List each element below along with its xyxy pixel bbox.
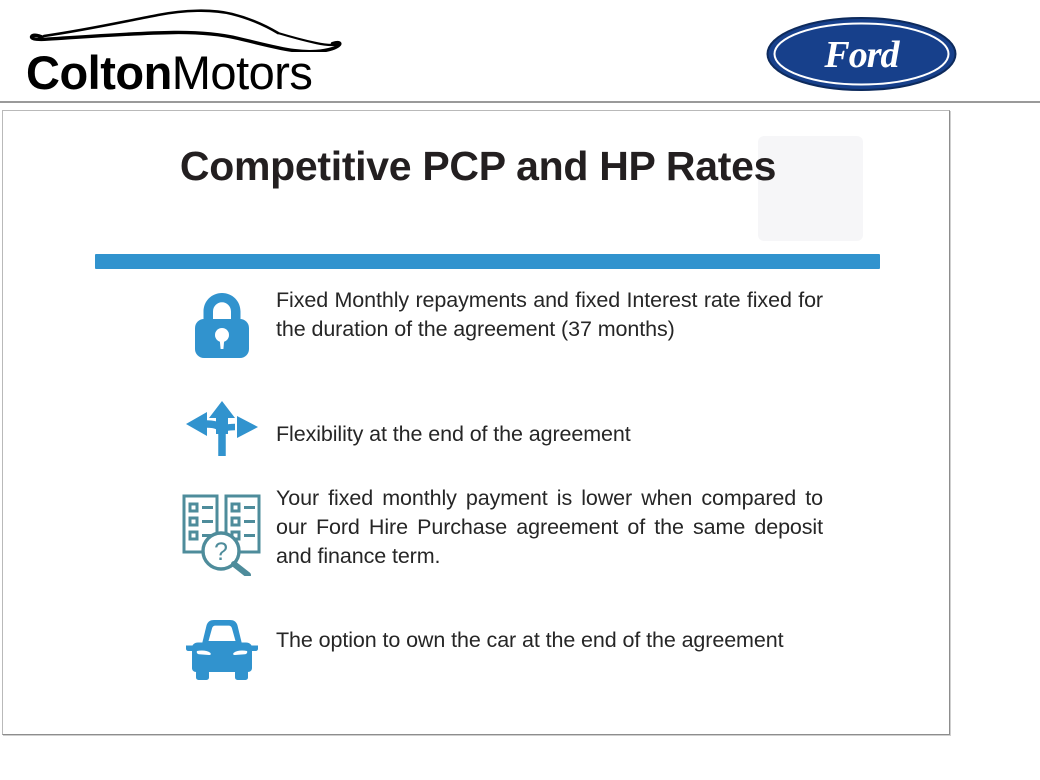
brand-wordmark: ColtonMotors <box>26 44 386 102</box>
brand-name-light: Motors <box>172 46 313 99</box>
feature-text: Fixed Monthly repayments and fixed Inter… <box>276 286 951 344</box>
feature-item-ownership-option: The option to own the car at the end of … <box>168 608 951 682</box>
feature-list: Fixed Monthly repayments and fixed Inter… <box>3 286 951 682</box>
ford-oval-logo: Ford <box>765 16 958 92</box>
brand-name-bold: Colton <box>26 46 172 99</box>
feature-item-fixed-repayments: Fixed Monthly repayments and fixed Inter… <box>168 286 951 360</box>
svg-text:?: ? <box>214 538 228 566</box>
title-block: Competitive PCP and HP Rates <box>63 139 893 193</box>
car-front-icon <box>168 608 276 682</box>
slide-card: Competitive PCP and HP Rates Fixed Month… <box>2 110 950 735</box>
feature-text: The option to own the car at the end of … <box>276 608 951 655</box>
document-comparison-search-icon-glyph: ? <box>180 490 264 576</box>
colton-motors-logo: ColtonMotors <box>26 6 386 100</box>
padlock-icon <box>168 286 276 360</box>
three-way-arrow-icon-glyph <box>183 400 261 462</box>
header-divider-rule <box>0 101 1040 103</box>
three-way-arrow-icon <box>168 398 276 462</box>
page-title: Competitive PCP and HP Rates <box>63 139 893 193</box>
feature-text: Your fixed monthly payment is lower when… <box>276 484 951 571</box>
feature-item-lower-payment: ? Your fixed monthly payment is lower wh… <box>168 484 951 576</box>
page-header: ColtonMotors Ford <box>0 0 1040 103</box>
svg-text:Ford: Ford <box>823 34 900 76</box>
title-divider-bar <box>95 254 880 269</box>
padlock-icon-glyph <box>190 290 254 360</box>
feature-text: Flexibility at the end of the agreement <box>276 398 951 449</box>
feature-item-flexibility: Flexibility at the end of the agreement <box>168 398 951 462</box>
car-front-icon-glyph <box>182 618 262 682</box>
document-comparison-search-icon: ? <box>168 484 276 576</box>
ford-logo-icon: Ford <box>765 16 958 92</box>
